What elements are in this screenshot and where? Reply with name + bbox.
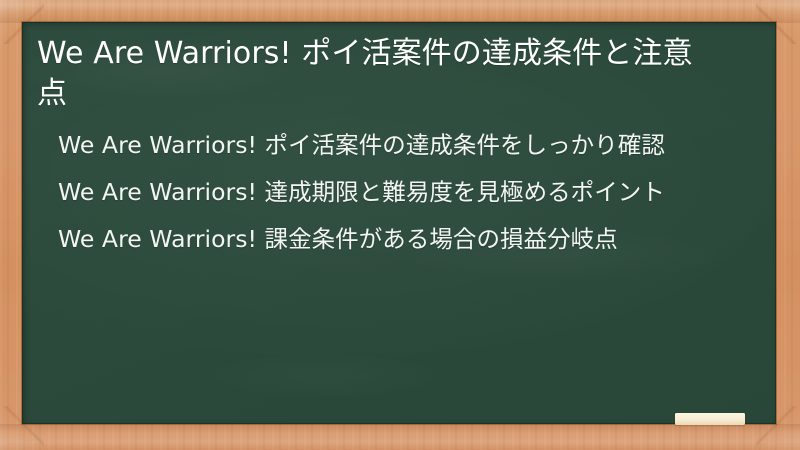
list-item: We Are Warriors! ポイ活案件の達成条件をしっかり確認 (58, 130, 718, 162)
chalkboard-content: We Are Warriors! ポイ活案件の達成条件と注意点 We Are W… (22, 22, 776, 256)
chalkboard-surface: We Are Warriors! ポイ活案件の達成条件と注意点 We Are W… (22, 22, 776, 424)
list-item: We Are Warriors! 達成期限と難易度を見極めるポイント (58, 177, 718, 209)
frame-grain-bottom (0, 424, 800, 450)
frame-grain-top (0, 0, 800, 23)
list-item: We Are Warriors! 課金条件がある場合の損益分岐点 (58, 224, 718, 256)
chalkboard-wooden-frame: We Are Warriors! ポイ活案件の達成条件と注意点 We Are W… (0, 0, 800, 450)
chalk-stick-icon (675, 413, 745, 425)
heading-list: We Are Warriors! ポイ活案件の達成条件をしっかり確認 We Ar… (37, 130, 740, 256)
page-title: We Are Warriors! ポイ活案件の達成条件と注意点 (37, 34, 713, 113)
